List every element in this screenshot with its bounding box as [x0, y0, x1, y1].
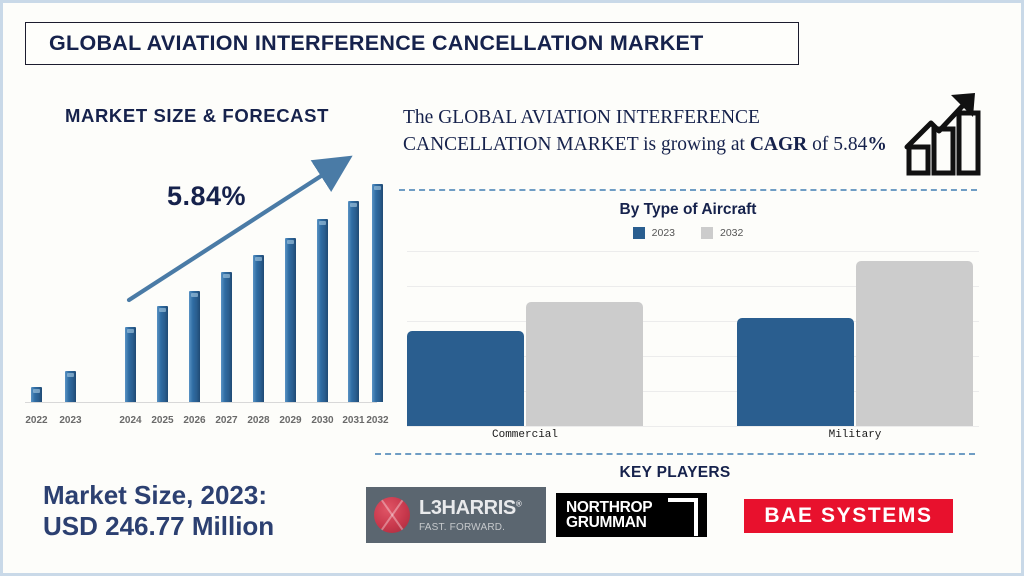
- logo-l3harris[interactable]: L3HARRIS® FAST. FORWARD.: [366, 487, 546, 543]
- logo-northrop-grumman[interactable]: NORTHROP GRUMMAN: [556, 493, 707, 537]
- legend-label: 2032: [720, 227, 743, 239]
- forecast-bar: [31, 387, 42, 402]
- registered-mark: ®: [516, 499, 522, 508]
- legend-item[interactable]: 2032: [701, 227, 743, 239]
- growth-statement: The GLOBAL AVIATION INTERFERENCE CANCELL…: [403, 104, 903, 158]
- aircraft-category-label: Military: [829, 429, 882, 441]
- aircraft-bar: [407, 331, 524, 426]
- forecast-year-label: 2025: [151, 415, 173, 426]
- l3harris-tagline: FAST. FORWARD.: [419, 523, 521, 533]
- gridline: [407, 426, 979, 427]
- forecast-bar: [348, 201, 359, 402]
- forecast-bar: [189, 291, 200, 402]
- forecast-year-label: 2029: [279, 415, 301, 426]
- page-title-box: GLOBAL AVIATION INTERFERENCE CANCELLATIO…: [25, 22, 799, 65]
- legend-swatch-icon: [701, 227, 713, 239]
- aircraft-chart-legend: 20232032: [399, 227, 977, 239]
- statement-middle: is growing at: [638, 134, 750, 155]
- forecast-year-label: 2023: [59, 415, 81, 426]
- page-title: GLOBAL AVIATION INTERFERENCE CANCELLATIO…: [26, 31, 704, 56]
- market-size-label: Market Size, 2023:: [43, 480, 274, 511]
- legend-item[interactable]: 2023: [633, 227, 675, 239]
- logo-bae-systems[interactable]: BAE SYSTEMS: [744, 499, 953, 533]
- aircraft-bar: [856, 261, 973, 426]
- forecast-bar: [317, 219, 328, 402]
- forecast-cagr-callout: 5.84%: [167, 181, 246, 212]
- northrop-line-1: NORTHROP: [566, 500, 652, 515]
- l3harris-name: L3HARRIS®: [419, 498, 521, 518]
- forecast-bar: [157, 306, 168, 402]
- aircraft-bar: [526, 302, 643, 426]
- forecast-bar: [125, 327, 136, 402]
- market-size-value: Market Size, 2023: USD 246.77 Million: [43, 480, 274, 542]
- legend-swatch-icon: [633, 227, 645, 239]
- aircraft-bar: [737, 318, 854, 426]
- forecast-bar: [221, 272, 232, 402]
- forecast-year-label: 2022: [25, 415, 47, 426]
- northrop-grumman-text: NORTHROP GRUMMAN: [566, 500, 652, 530]
- northrop-bracket-icon: [668, 498, 698, 536]
- by-type-of-aircraft-chart: [407, 251, 979, 426]
- forecast-year-label: 2027: [215, 415, 237, 426]
- market-size-amount: USD 246.77 Million: [43, 511, 274, 542]
- forecast-year-label: 2030: [311, 415, 333, 426]
- statement-prefix: The: [403, 107, 438, 128]
- northrop-line-2: GRUMMAN: [566, 515, 652, 530]
- growth-bar-chart-arrow-icon: [901, 87, 993, 179]
- statement-percent: %: [867, 134, 887, 155]
- forecast-year-label: 2026: [183, 415, 205, 426]
- statement-suffix: of 5.84: [807, 134, 867, 155]
- l3harris-globe-icon: [374, 497, 410, 533]
- forecast-bar: [372, 184, 383, 402]
- aircraft-chart-title: By Type of Aircraft: [620, 201, 757, 218]
- forecast-year-label: 2032: [366, 415, 388, 426]
- forecast-chart-heading: MARKET SIZE & FORECAST: [65, 105, 329, 127]
- divider-key-players: [375, 453, 975, 455]
- divider-top: [399, 189, 977, 191]
- aircraft-category-label: Commercial: [492, 429, 558, 441]
- gridline: [407, 251, 979, 252]
- aircraft-chart-title-wrap: By Type of Aircraft: [399, 201, 977, 219]
- legend-label: 2023: [652, 227, 675, 239]
- infographic-root: GLOBAL AVIATION INTERFERENCE CANCELLATIO…: [0, 0, 1024, 576]
- l3harris-text: L3HARRIS® FAST. FORWARD.: [419, 498, 521, 533]
- forecast-bar: [65, 371, 76, 402]
- forecast-bar: [253, 255, 264, 402]
- forecast-baseline: [25, 402, 377, 403]
- key-players-title: KEY PLAYERS: [375, 464, 975, 482]
- statement-cagr-word: CAGR: [750, 134, 807, 155]
- forecast-bar: [285, 238, 296, 402]
- forecast-year-label: 2028: [247, 415, 269, 426]
- forecast-year-label: 2024: [119, 415, 141, 426]
- bae-systems-name: BAE SYSTEMS: [764, 504, 932, 528]
- forecast-year-label: 2031: [342, 415, 364, 426]
